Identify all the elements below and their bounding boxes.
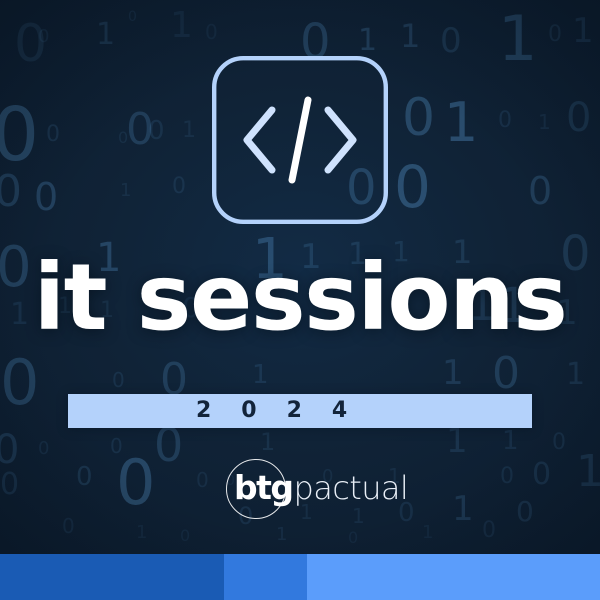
bottom-segment-light-blue: [307, 554, 600, 600]
right-chevron-icon: [328, 110, 353, 170]
year-label: 2024: [68, 400, 377, 422]
forward-slash-icon: [292, 100, 308, 180]
poster-title: it sessions: [0, 252, 600, 344]
left-chevron-icon: [247, 110, 272, 170]
logo-wordmark: btg pactual: [234, 471, 408, 504]
logo-text-btg: btg: [234, 471, 293, 504]
bottom-segment-medium-blue: [224, 554, 307, 600]
code-brackets-icon: [212, 56, 388, 224]
code-brackets-svg: [212, 56, 388, 224]
poster-canvas: 0010100110101000010010100010000011111101…: [0, 0, 600, 600]
logo-text-pactual: pactual: [294, 472, 409, 504]
year-banner: 2024: [68, 394, 532, 428]
btg-pactual-logo: btg pactual: [222, 455, 392, 517]
bottom-accent-bar: [0, 554, 600, 600]
bottom-segment-dark-blue: [0, 554, 224, 600]
